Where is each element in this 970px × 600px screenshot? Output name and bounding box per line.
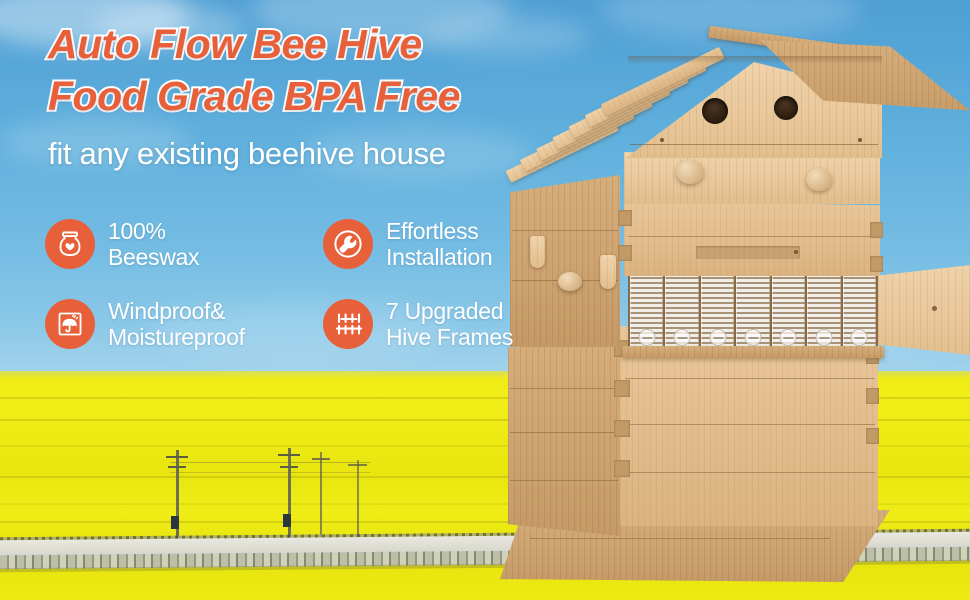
plank-seam: [510, 480, 618, 481]
feature-item-beeswax: 100% Beeswax: [45, 208, 323, 280]
plank-seam: [510, 432, 618, 433]
feature-label: 7 Upgraded Hive Frames: [386, 298, 513, 350]
flow-frame-key-cap: [780, 329, 797, 346]
flow-frame-key-cap: [709, 329, 726, 346]
super-pull-strip: [696, 246, 800, 259]
feature-item-windproof: Windproof& Moistureproof: [45, 288, 323, 360]
umbrella-rain-icon: [45, 299, 95, 349]
screw: [858, 138, 862, 142]
hive-top-box: [624, 152, 880, 204]
flow-frames-sill: [622, 346, 884, 358]
hive-frames-sliders-icon: [323, 299, 373, 349]
hive-front-knob: [806, 168, 832, 191]
screw: [932, 306, 937, 311]
feature-label: Windproof& Moistureproof: [108, 298, 245, 350]
hive-entrance-hole: [774, 96, 798, 120]
flow-frame-key-cap: [674, 329, 691, 346]
flow-frames-window: [628, 272, 878, 350]
plank-seam: [625, 424, 875, 425]
brood-box-side: [508, 340, 620, 536]
hive-side-panel: [878, 262, 970, 358]
flow-frame-key-cap: [851, 329, 868, 346]
flow-frame-key-cap: [638, 329, 655, 346]
flow-frame: [736, 274, 769, 348]
dovetail-joint: [614, 380, 630, 397]
hive-latch: [600, 255, 616, 289]
feature-item-hive-frames: 7 Upgraded Hive Frames: [323, 288, 573, 360]
dovetail-joint: [870, 256, 883, 272]
flow-frame: [665, 274, 698, 348]
flow-frame: [630, 274, 663, 348]
flow-frame: [701, 274, 734, 348]
dovetail-joint: [618, 210, 632, 226]
dovetail-joint: [866, 388, 879, 404]
dovetail-joint: [614, 460, 630, 477]
feature-list: 100% Beeswax Effortless Installation: [45, 208, 565, 360]
banner-subtitle: fit any existing beehive house: [48, 136, 446, 172]
screw: [794, 250, 798, 254]
super-box-front: [624, 200, 880, 276]
hive-front-knob: [676, 160, 704, 184]
flow-frame: [772, 274, 805, 348]
plank-seam: [625, 378, 875, 379]
page-title: Auto Flow Bee Hive Food Grade BPA Free: [48, 18, 460, 123]
flow-frame-key-cap: [815, 329, 832, 346]
feature-label: 100% Beeswax: [108, 218, 199, 270]
dovetail-joint: [870, 222, 883, 238]
plank-seam: [628, 236, 876, 237]
roof-eave-shadow: [628, 56, 882, 64]
dovetail-joint: [618, 245, 632, 261]
screw: [660, 138, 664, 142]
board-seam: [530, 538, 830, 539]
hive-entrance-hole: [702, 98, 728, 124]
plank-seam: [625, 472, 875, 473]
product-banner: Auto Flow Bee Hive Food Grade BPA Free f…: [0, 0, 970, 600]
dovetail-joint: [614, 420, 630, 437]
flow-frame-key-cap: [744, 329, 761, 346]
feature-item-installation: Effortless Installation: [323, 208, 573, 280]
flow-frame: [807, 274, 840, 348]
flow-frame: [843, 274, 876, 348]
plank-seam: [510, 388, 618, 389]
power-line: [170, 462, 370, 463]
power-line: [170, 472, 370, 473]
dovetail-joint: [866, 428, 879, 444]
honey-jar-icon: [45, 219, 95, 269]
wrench-icon: [323, 219, 373, 269]
feature-label: Effortless Installation: [386, 218, 492, 270]
gable-seam: [630, 144, 878, 145]
